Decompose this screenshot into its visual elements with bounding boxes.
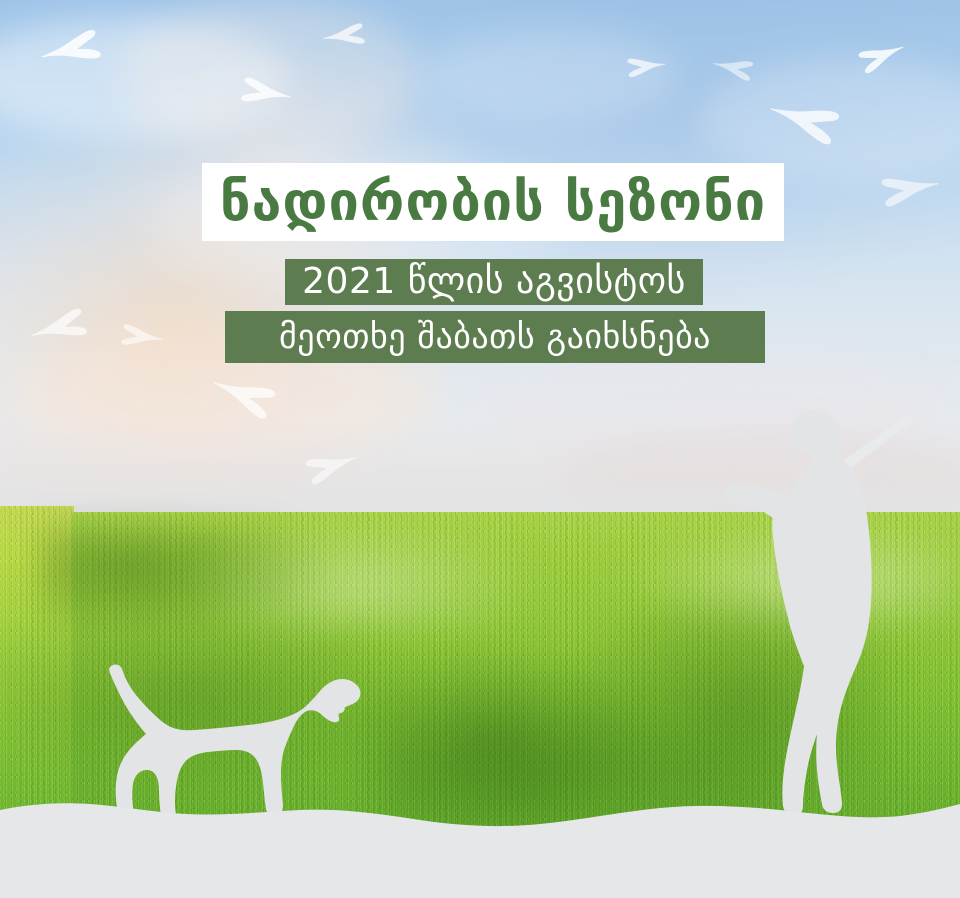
headline-text: ნადირობის სეზონი [220, 175, 766, 229]
poster-canvas: ნადირობის სეზონი 2021 წლის აგვისტოს მეოთ… [0, 0, 960, 898]
subtitle-band-line1: 2021 წლის აგვისტოს [285, 259, 703, 305]
grass-highlight [620, 520, 960, 640]
foreground-ground-band [0, 768, 960, 898]
headline-band: ნადირობის სეზონი [202, 163, 784, 241]
cloud [120, 0, 420, 150]
horizon-haze [0, 420, 960, 530]
grass-shadow [40, 520, 340, 640]
subtitle-line1-text: 2021 წლის აგვისტოს [302, 264, 686, 300]
cloud [420, 30, 680, 120]
grass-highlight [180, 520, 540, 630]
cloud [0, 18, 290, 138]
subtitle-line2-text: მეოთხე შაბათს გაიხსნება [279, 320, 711, 354]
cloud [700, 60, 960, 180]
subtitle-band-line2: მეოთხე შაბათს გაიხსნება [225, 311, 765, 363]
